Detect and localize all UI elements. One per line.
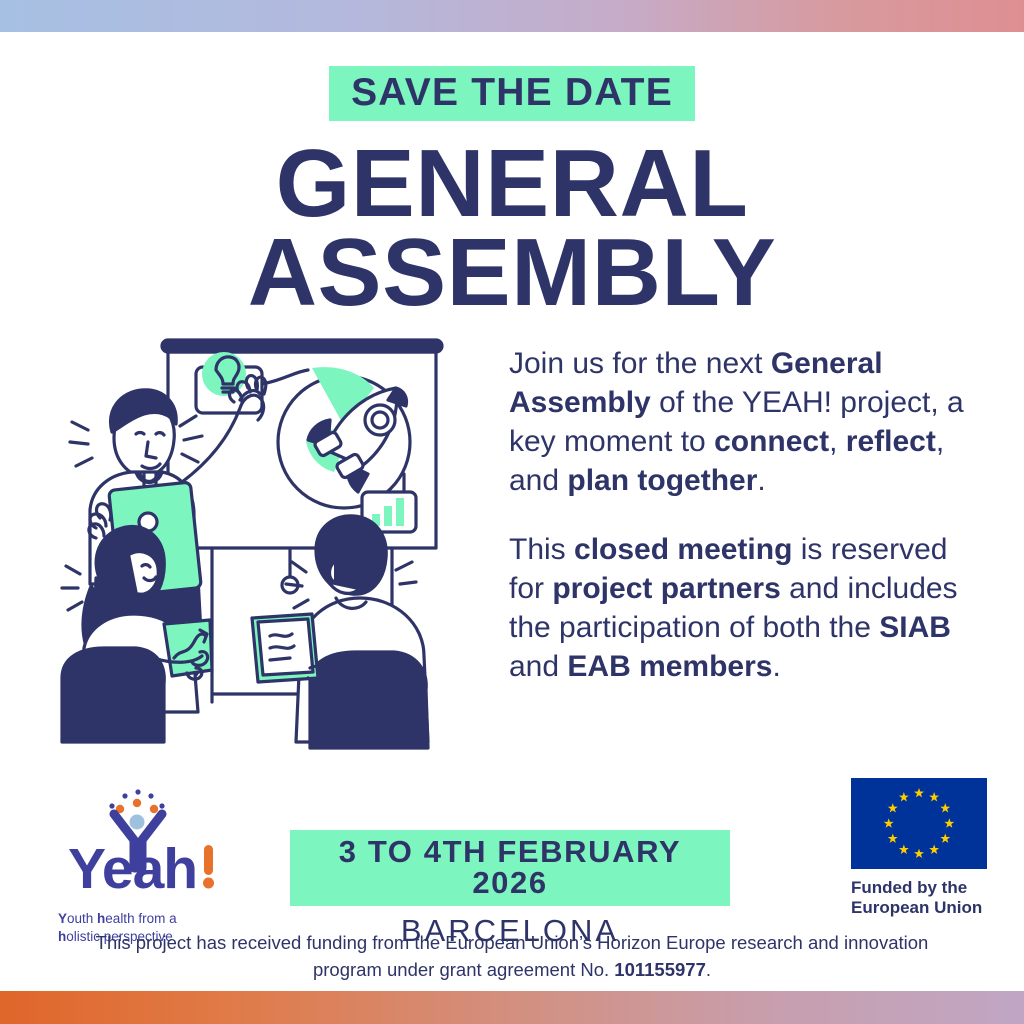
bottom-gradient-band	[0, 991, 1024, 1024]
eu-caption-line-2: European Union	[851, 898, 1001, 918]
eu-caption-line-1: Funded by the	[851, 878, 1001, 898]
event-dates-banner: 3 TO 4TH FEBRUARY 2026	[290, 830, 730, 906]
body-paragraph-2: This closed meeting is reserved for proj…	[509, 530, 987, 686]
page-title-line-2: ASSEMBLY	[0, 228, 1024, 317]
eu-flag-icon	[851, 778, 987, 869]
svg-text:Yeah: Yeah	[68, 837, 197, 901]
header: SAVE THE DATE GENERAL ASSEMBLY	[0, 66, 1024, 318]
yeah-logo-tagline-line-1: Youth health from a	[58, 910, 252, 928]
save-the-date-badge: SAVE THE DATE	[329, 66, 695, 121]
top-gradient-band	[0, 0, 1024, 32]
funding-disclaimer: This project has received funding from t…	[72, 930, 952, 984]
page-title: GENERAL ASSEMBLY	[0, 139, 1024, 318]
page-title-line-1: GENERAL	[0, 139, 1024, 228]
poster-canvas: SAVE THE DATE GENERAL ASSEMBLY	[0, 0, 1024, 1024]
meeting-illustration	[44, 322, 464, 762]
body-copy: Join us for the next General Assembly of…	[509, 344, 987, 686]
yeah-logo: Yeah Youth health from a holistic perspe…	[52, 784, 252, 912]
eu-funding-caption: Funded by the European Union	[851, 878, 1001, 919]
body-paragraph-1: Join us for the next General Assembly of…	[509, 344, 987, 500]
eu-funding-emblem: Funded by the European Union	[851, 778, 1001, 919]
